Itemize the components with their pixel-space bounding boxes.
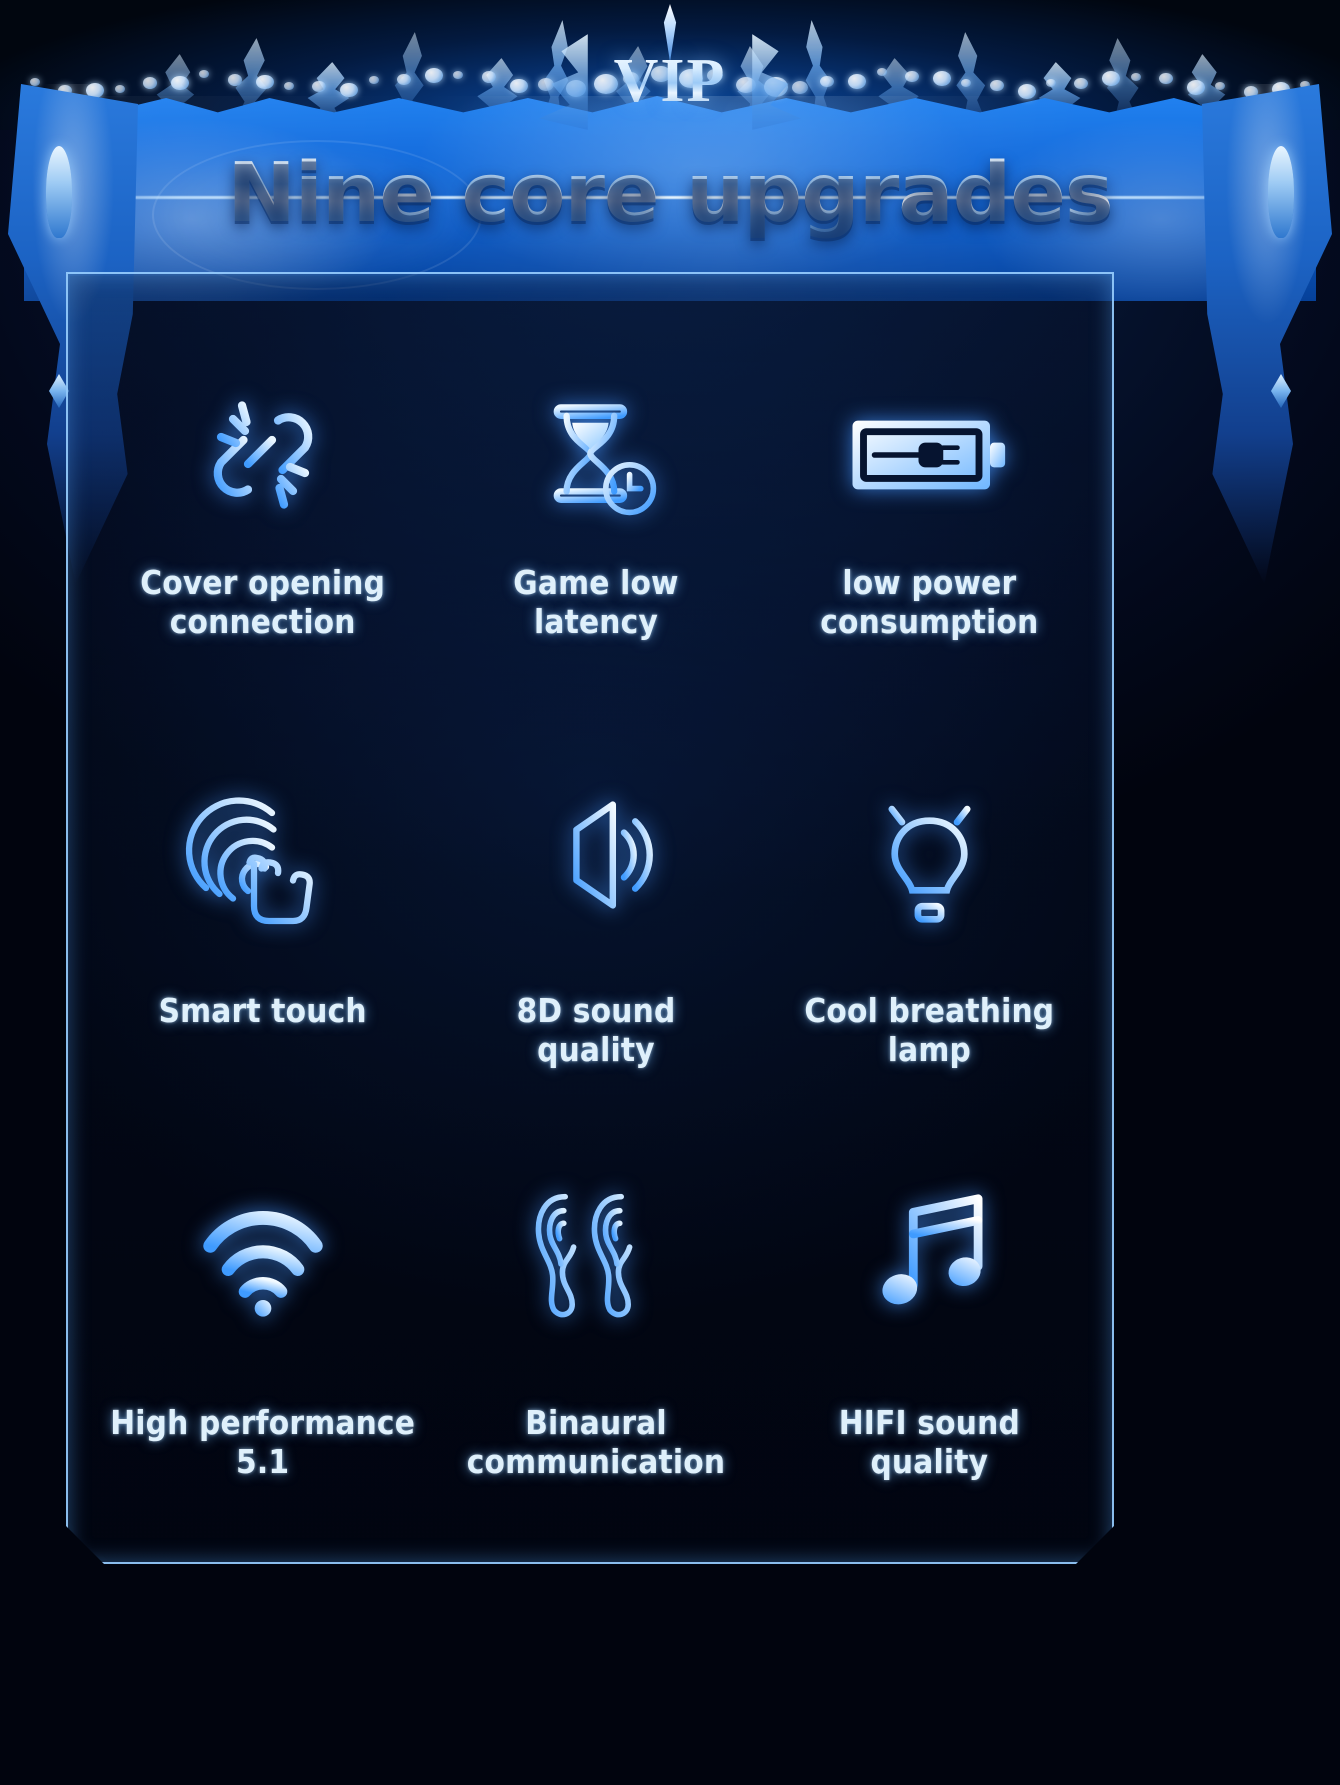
pearl-icon bbox=[256, 75, 274, 90]
feature-label-line1: High performance bbox=[110, 1404, 415, 1443]
pearl-icon bbox=[1046, 79, 1056, 87]
feature-label-line1: Game low bbox=[513, 564, 678, 603]
feature-label-line2: latency bbox=[513, 603, 678, 642]
feature-item: Cover opening connection bbox=[96, 360, 429, 760]
pearl-icon bbox=[228, 74, 242, 85]
feature-item: 8D sound quality bbox=[429, 760, 762, 1160]
feature-label-line2: communication bbox=[467, 1443, 725, 1482]
pearl-icon bbox=[848, 74, 866, 89]
feature-label-line2: lamp bbox=[804, 1031, 1054, 1070]
feature-label: High performance 5.1 bbox=[110, 1404, 415, 1482]
feature-label-line1: Cover opening bbox=[140, 564, 385, 603]
feature-label-line2: consumption bbox=[820, 603, 1038, 642]
vip-emblem: VIP bbox=[560, 6, 780, 136]
pearl-icon bbox=[171, 76, 189, 91]
feature-item: Game low latency bbox=[429, 360, 762, 760]
pearl-icon bbox=[510, 79, 528, 94]
feature-label-line1: Smart touch bbox=[159, 992, 367, 1031]
pearl-icon bbox=[1018, 84, 1036, 99]
pearl-icon bbox=[284, 82, 294, 90]
pearl-icon bbox=[1159, 73, 1173, 84]
feature-label-line2: connection bbox=[140, 603, 385, 642]
feature-label-line1: HIFI sound bbox=[839, 1404, 1020, 1443]
pearl-icon bbox=[1074, 78, 1088, 89]
light-bulb-icon bbox=[857, 760, 1002, 950]
pearl-icon bbox=[538, 78, 554, 91]
feature-label: Cover opening connection bbox=[140, 564, 385, 642]
two-ears-icon bbox=[526, 1160, 666, 1350]
battery-plug-icon bbox=[847, 360, 1012, 550]
vip-label: VIP bbox=[614, 46, 727, 117]
pearl-icon bbox=[990, 80, 1004, 91]
feature-label-line1: Binaural bbox=[467, 1404, 725, 1443]
feature-label-line2: quality bbox=[839, 1443, 1020, 1482]
feature-item: High performance 5.1 bbox=[96, 1160, 429, 1560]
pearl-icon bbox=[792, 81, 808, 94]
hourglass-clock-icon bbox=[526, 360, 666, 550]
pearl-icon bbox=[425, 68, 443, 83]
wifi-signal-icon bbox=[193, 1160, 333, 1350]
page-title: Nine core upgrades bbox=[0, 146, 1340, 241]
feature-item: Smart touch bbox=[96, 760, 429, 1160]
feature-label: low power consumption bbox=[820, 564, 1038, 642]
chain-link-spark-icon bbox=[188, 360, 338, 550]
pearl-icon bbox=[482, 71, 496, 82]
pearl-icon bbox=[961, 79, 971, 87]
promo-page: VIP Nine core upgrades bbox=[0, 0, 1340, 1785]
pearl-icon bbox=[199, 70, 209, 78]
music-note-icon bbox=[862, 1160, 997, 1350]
feature-label-line1: 8D sound bbox=[517, 992, 676, 1031]
pearl-icon bbox=[312, 81, 326, 92]
pearl-icon bbox=[143, 77, 157, 88]
feature-label: Binaural communication bbox=[467, 1404, 725, 1482]
feature-item: Cool breathing lamp bbox=[763, 760, 1096, 1160]
feature-item: HIFI sound quality bbox=[763, 1160, 1096, 1560]
speaker-sound-icon bbox=[526, 760, 666, 950]
feature-label: Cool breathing lamp bbox=[804, 992, 1054, 1070]
feature-label-line1: low power bbox=[820, 564, 1038, 603]
pearl-icon bbox=[397, 74, 411, 85]
feature-item: low power consumption bbox=[763, 360, 1096, 760]
pearl-icon bbox=[340, 83, 358, 98]
feature-item: Binaural communication bbox=[429, 1160, 762, 1560]
feature-label-line1: Cool breathing bbox=[804, 992, 1054, 1031]
feature-label: HIFI sound quality bbox=[839, 1404, 1020, 1482]
pearl-icon bbox=[369, 76, 379, 84]
pearl-icon bbox=[905, 71, 919, 82]
pearl-icon bbox=[1102, 71, 1120, 86]
feature-grid: Cover opening connection bbox=[96, 360, 1096, 1560]
feature-label: 8D sound quality bbox=[517, 992, 676, 1070]
feature-label: Game low latency bbox=[513, 564, 678, 642]
pearl-icon bbox=[1131, 73, 1141, 81]
pearl-icon bbox=[453, 71, 463, 79]
touch-gesture-icon bbox=[188, 760, 338, 950]
feature-label-line2: quality bbox=[517, 1031, 676, 1070]
pearl-icon bbox=[933, 71, 951, 86]
pearl-icon bbox=[820, 76, 834, 87]
feature-label-line2: 5.1 bbox=[110, 1443, 415, 1482]
pearl-icon bbox=[877, 68, 887, 76]
feature-label: Smart touch bbox=[159, 992, 367, 1031]
